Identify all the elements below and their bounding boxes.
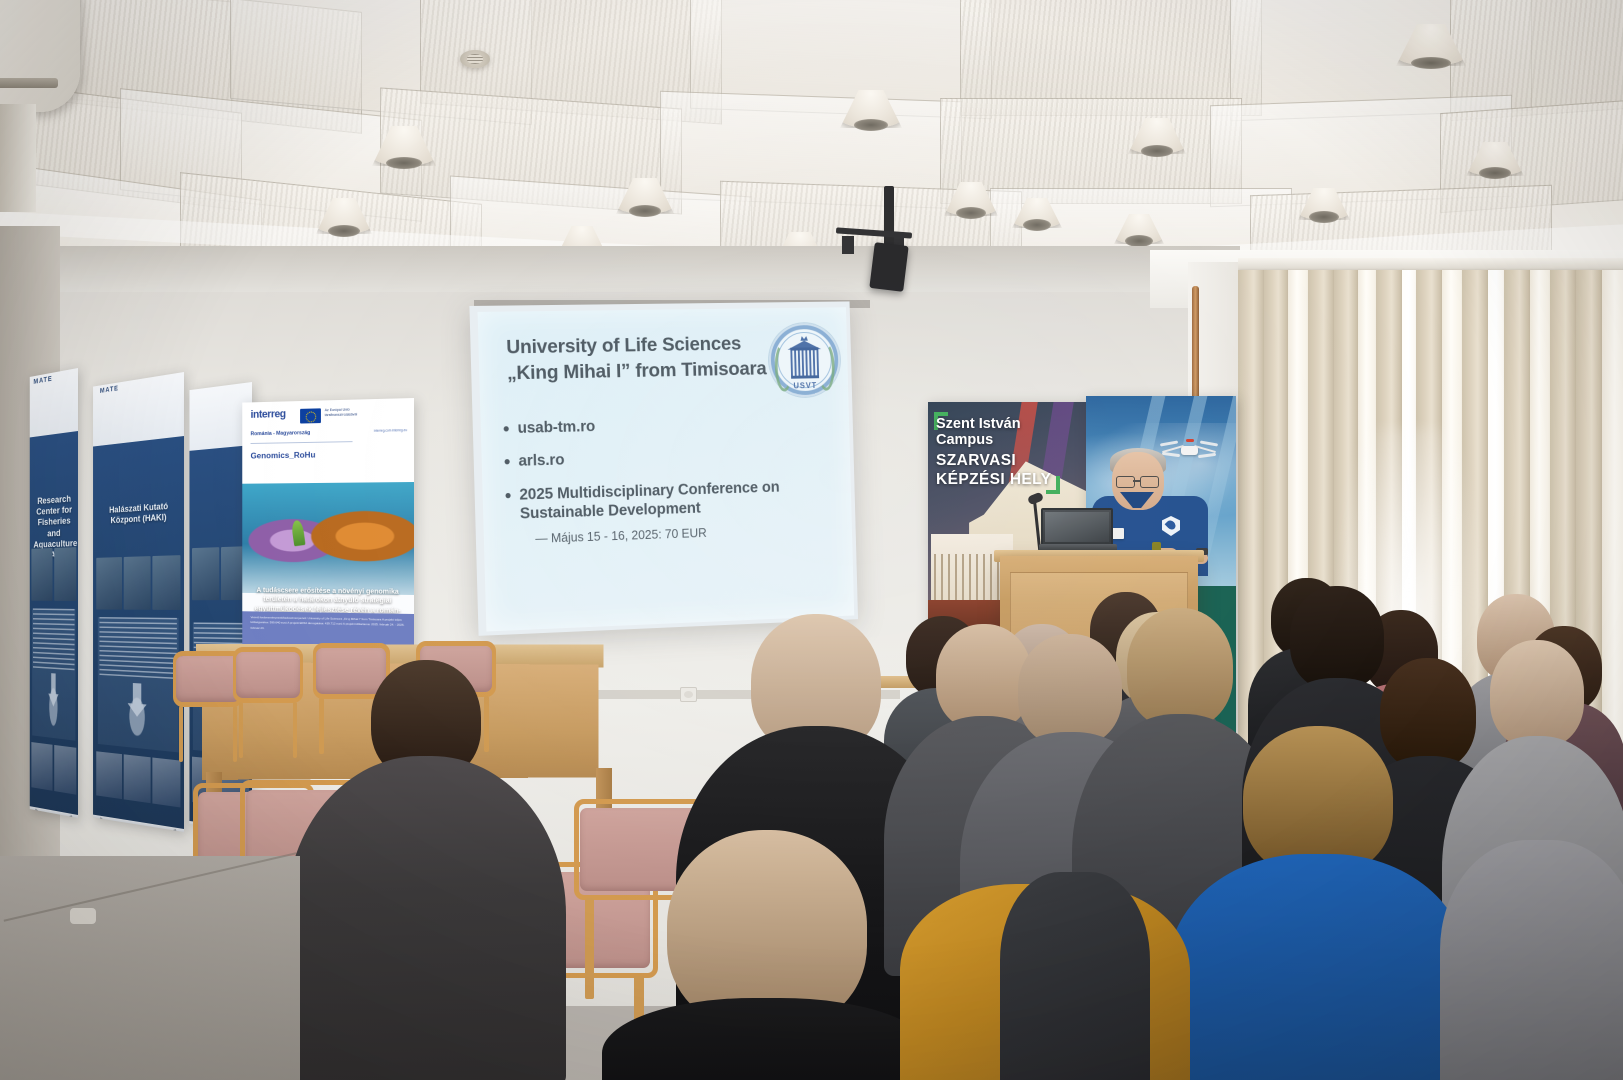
bullet-dot-icon: ● bbox=[503, 452, 511, 471]
slide-title: University of Life Sciences „King Mihai … bbox=[506, 331, 777, 387]
interreg-project-name: Genomics_RoHu bbox=[251, 450, 316, 461]
pendant-lamp bbox=[616, 178, 674, 214]
haki-banner-title: Halászati Kutató Központ (HAKI) bbox=[100, 500, 178, 527]
interreg-countries: Románia - Magyarország bbox=[251, 430, 311, 437]
seal-acronym: USVT bbox=[770, 381, 841, 391]
interreg-poster: interreg Az Európai Unió társfinanszíroz… bbox=[242, 398, 414, 668]
lecture-hall-photo: University of Life Sciences „King Mihai … bbox=[0, 0, 1623, 1080]
pendant-lamp bbox=[944, 182, 998, 216]
projector-mount-bolt bbox=[842, 236, 854, 254]
bullet-dot-icon: ● bbox=[502, 419, 510, 438]
slide-sub-bullet: — Május 15 - 16, 2025: 70 EUR bbox=[535, 522, 813, 545]
eu-funding-note: Az Európai Unió társfinanszírozásával bbox=[325, 407, 383, 418]
banner-line-2: Campus bbox=[936, 432, 1062, 448]
slide-bullet-text: usab-tm.ro bbox=[517, 417, 595, 438]
mate-logo-icon: MATE bbox=[33, 375, 52, 385]
speaker-glasses-bridge bbox=[1133, 480, 1140, 482]
pendant-lamp bbox=[840, 90, 902, 128]
wall-duct bbox=[0, 104, 36, 212]
banner-line-1: Szent István bbox=[936, 416, 1062, 432]
interreg-footer-text: Vezető kedvezményezett/kedvezményezett: … bbox=[251, 615, 406, 633]
usvt-seal-icon: USVT bbox=[768, 323, 841, 398]
haki-banner-back: MATE Research Center for Fisheries and A… bbox=[30, 368, 78, 818]
air-conditioner-unit bbox=[0, 0, 80, 112]
pendant-lamp bbox=[1114, 214, 1164, 244]
projector-mount-icon bbox=[884, 186, 894, 248]
slide-bullet: ● usab-tm.ro bbox=[502, 412, 810, 438]
eu-flag-icon bbox=[300, 408, 321, 423]
drone-icon bbox=[1164, 437, 1216, 463]
slide-bullet-text: arls.ro bbox=[518, 451, 564, 471]
audience-member bbox=[602, 830, 932, 1080]
laptop-icon[interactable] bbox=[1041, 508, 1113, 546]
projector-body bbox=[869, 242, 908, 292]
bullet-dot-icon: ● bbox=[504, 486, 512, 525]
audience-member bbox=[1168, 726, 1468, 1080]
backpack bbox=[1000, 872, 1150, 1080]
slide-bullet-list: ● usab-tm.ro ● arls.ro ● 2025 Multidisci… bbox=[502, 412, 813, 546]
slide-bullet: ● arls.ro bbox=[503, 445, 811, 472]
audience-member bbox=[286, 660, 566, 1080]
banner-line-4: KÉPZÉSI HELY bbox=[936, 471, 1062, 489]
slide-title-line2: „King Mihai I” from Timisoara bbox=[507, 357, 777, 388]
pendant-lamp bbox=[1298, 188, 1350, 220]
ceiling-vent-icon bbox=[460, 50, 490, 68]
chair[interactable] bbox=[176, 656, 240, 756]
interreg-url: interreg.com interreg.eu bbox=[374, 428, 407, 433]
audience-member bbox=[1440, 840, 1623, 1080]
speaker-glasses bbox=[1140, 476, 1159, 488]
pendant-lamp bbox=[1396, 24, 1466, 66]
mate-logo-icon: MATE bbox=[100, 385, 119, 395]
banner-line-3: SZARVASI bbox=[936, 452, 1062, 470]
pendant-lamp bbox=[1128, 118, 1186, 154]
pendant-lamp bbox=[316, 198, 372, 234]
wall-upper-band bbox=[0, 246, 1240, 292]
slide-bullet-text: 2025 Multidisciplinary Conference on Sus… bbox=[519, 477, 812, 524]
pendant-lamp bbox=[1012, 198, 1062, 228]
pendant-lamp bbox=[1466, 142, 1524, 176]
speaker-shirt-logo-icon bbox=[1162, 516, 1180, 536]
floor bbox=[0, 856, 300, 1080]
haki-banner-main: MATE Halászati Kutató Központ (HAKI) bbox=[93, 372, 184, 832]
speaker-glasses bbox=[1116, 476, 1135, 488]
slide-bullet: ● 2025 Multidisciplinary Conference on S… bbox=[504, 477, 812, 525]
pendant-lamp bbox=[372, 126, 436, 166]
onion-photo bbox=[242, 482, 414, 595]
presentation-slide: University of Life Sciences „King Mihai … bbox=[478, 307, 855, 631]
banner-base-weight bbox=[70, 908, 96, 924]
projection-screen: University of Life Sciences „King Mihai … bbox=[469, 301, 858, 635]
